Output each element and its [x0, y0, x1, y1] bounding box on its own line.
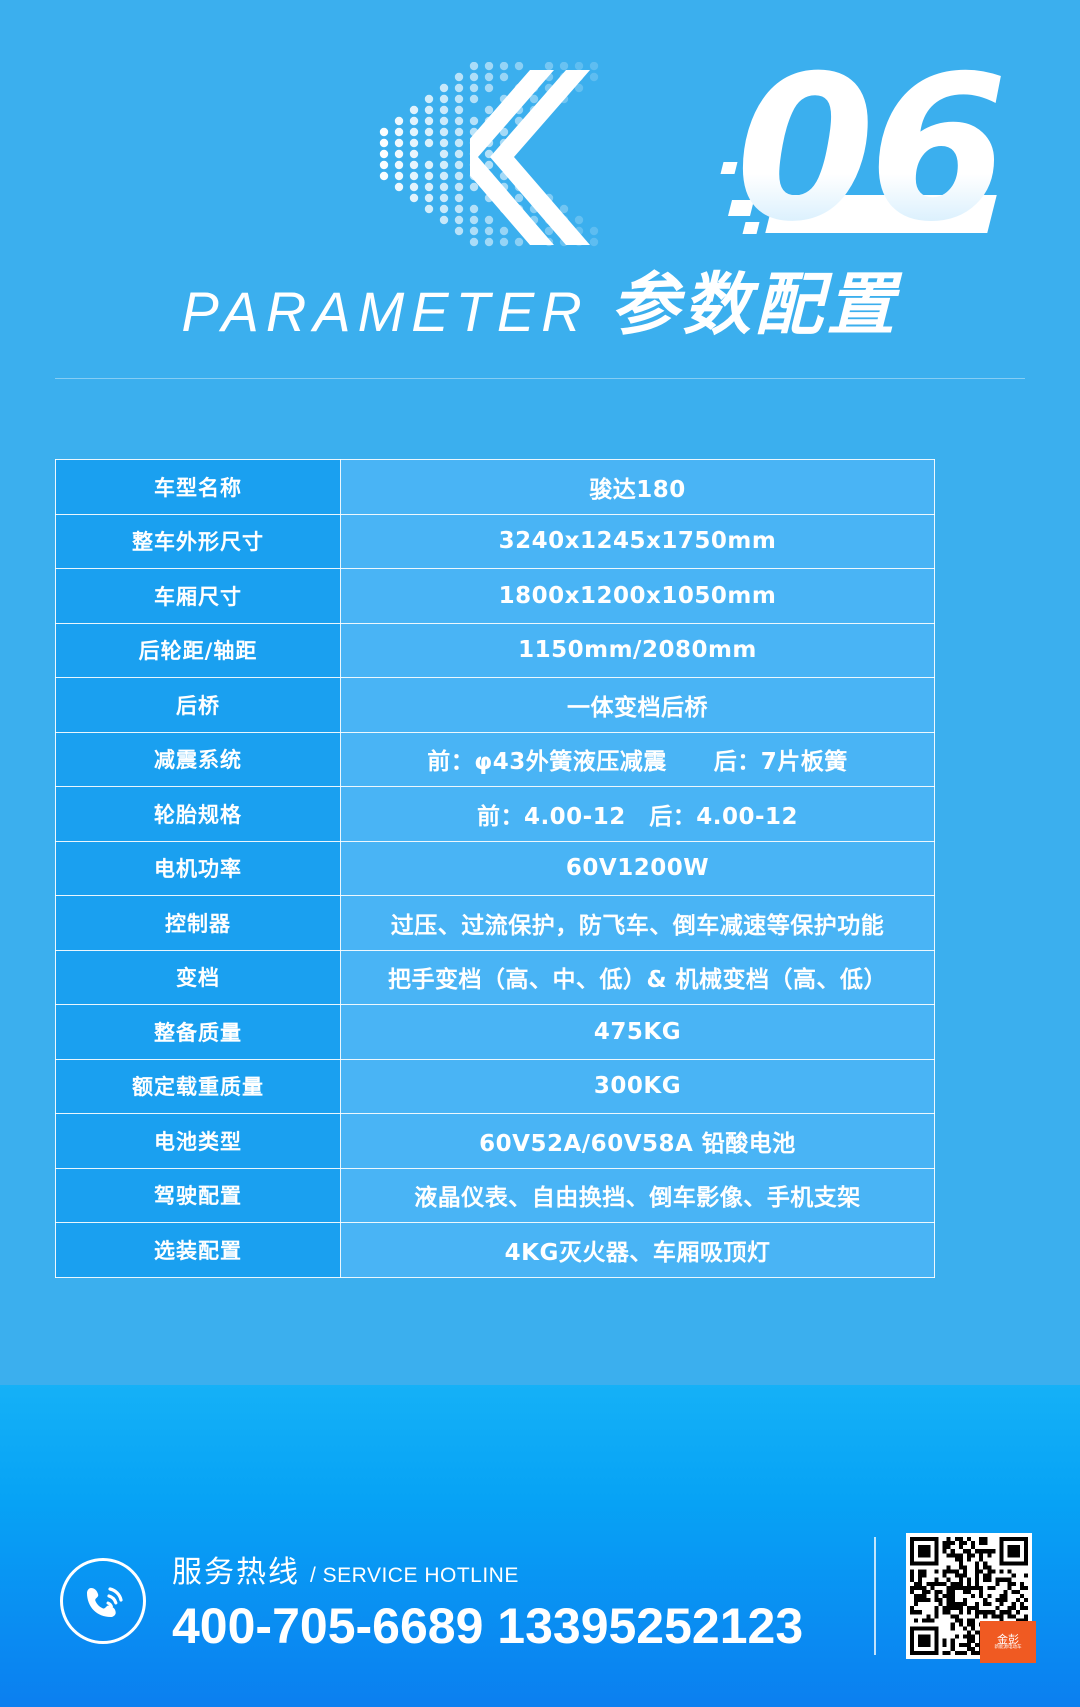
spec-value-cell: 前：φ43外簧液压减震 后：7片板簧 [341, 732, 935, 787]
table-row: 轮胎规格前：4.00-12 后：4.00-12 [56, 787, 935, 842]
spec-value-cell: 300KG [341, 1059, 935, 1114]
spec-value-cell: 60V1200W [341, 841, 935, 896]
spec-label-cell: 轮胎规格 [56, 787, 341, 842]
table-row: 后轮距/轴距1150mm/2080mm [56, 623, 935, 678]
section-title-cn: 参数配置 [611, 272, 899, 340]
phone-icon [77, 1575, 129, 1627]
hotline-text: 服务热线 / SERVICE HOTLINE 400-705-6689 1339… [172, 1547, 803, 1655]
spec-label-cell: 电池类型 [56, 1114, 341, 1169]
table-row: 额定载重质量300KG [56, 1059, 935, 1114]
table-row: 电池类型60V52A/60V58A 铅酸电池 [56, 1114, 935, 1169]
spec-label-cell: 电机功率 [56, 841, 341, 896]
spec-table-body: 车型名称骏达180整车外形尺寸3240x1245x1750mm车厢尺寸1800x… [56, 460, 935, 1278]
hotline-block: 服务热线 / SERVICE HOTLINE 400-705-6689 1339… [60, 1547, 803, 1655]
spec-label-cell: 控制器 [56, 896, 341, 951]
qr-brand-name: 金彭 [997, 1634, 1019, 1645]
spec-value-cell: 前：4.00-12 后：4.00-12 [341, 787, 935, 842]
spec-label-cell: 驾驶配置 [56, 1168, 341, 1223]
phone-icon-circle [60, 1558, 146, 1644]
spec-value-cell: 把手变档（高、中、低）& 机械变档（高、低） [341, 950, 935, 1005]
spec-value-cell: 3240x1245x1750mm [341, 514, 935, 569]
hotline-heading: 服务热线 / SERVICE HOTLINE [172, 1547, 803, 1591]
table-row: 车厢尺寸1800x1200x1050mm [56, 569, 935, 624]
spec-value-cell: 60V52A/60V58A 铅酸电池 [341, 1114, 935, 1169]
spec-value-cell: 液晶仪表、自由换挡、倒车影像、手机支架 [341, 1168, 935, 1223]
spec-label-cell: 变档 [56, 950, 341, 1005]
spec-value-cell: 1800x1200x1050mm [341, 569, 935, 624]
qr-divider [874, 1537, 876, 1655]
qr-block: 金彭 新能源电动车 [874, 1533, 1032, 1659]
solid-chevron-icon [470, 70, 590, 245]
spec-label-cell: 额定载重质量 [56, 1059, 341, 1114]
spec-label-cell: 后轮距/轴距 [56, 623, 341, 678]
page-header: 06 PARAMETER 参数配置 [0, 0, 1080, 400]
table-row: 选装配置4KG灭火器、车厢吸顶灯 [56, 1223, 935, 1278]
hotline-label-cn: 服务热线 [172, 1547, 300, 1591]
hotline-numbers[interactable]: 400-705-6689 13395252123 [172, 1597, 803, 1655]
table-row: 后桥一体变档后桥 [56, 678, 935, 733]
table-row: 驾驶配置液晶仪表、自由换挡、倒车影像、手机支架 [56, 1168, 935, 1223]
spec-value-cell: 475KG [341, 1005, 935, 1060]
spec-label-cell: 车型名称 [56, 460, 341, 515]
spec-label-cell: 车厢尺寸 [56, 569, 341, 624]
spec-table: 车型名称骏达180整车外形尺寸3240x1245x1750mm车厢尺寸1800x… [55, 459, 935, 1278]
section-number: 06 [736, 50, 1002, 250]
qr-code[interactable]: 金彭 新能源电动车 [906, 1533, 1032, 1659]
spec-value-cell: 过压、过流保护，防飞车、倒车减速等保护功能 [341, 896, 935, 951]
spec-value-cell: 1150mm/2080mm [341, 623, 935, 678]
table-row: 车型名称骏达180 [56, 460, 935, 515]
spec-label-cell: 选装配置 [56, 1223, 341, 1278]
table-row: 整车外形尺寸3240x1245x1750mm [56, 514, 935, 569]
section-title: PARAMETER 参数配置 [0, 272, 1080, 340]
spec-value-cell: 4KG灭火器、车厢吸顶灯 [341, 1223, 935, 1278]
spec-label-cell: 整车外形尺寸 [56, 514, 341, 569]
spec-value-cell: 一体变档后桥 [341, 678, 935, 733]
qr-brand-logo: 金彭 新能源电动车 [980, 1621, 1036, 1663]
spec-label-cell: 减震系统 [56, 732, 341, 787]
spec-value-cell: 骏达180 [341, 460, 935, 515]
section-title-en: PARAMETER [181, 284, 588, 340]
page-footer: 服务热线 / SERVICE HOTLINE 400-705-6689 1339… [0, 1385, 1080, 1707]
table-row: 减震系统前：φ43外簧液压减震 后：7片板簧 [56, 732, 935, 787]
spec-label-cell: 后桥 [56, 678, 341, 733]
table-row: 整备质量475KG [56, 1005, 935, 1060]
table-row: 变档把手变档（高、中、低）& 机械变档（高、低） [56, 950, 935, 1005]
qr-brand-tagline: 新能源电动车 [995, 1646, 1022, 1651]
table-row: 电机功率60V1200W [56, 841, 935, 896]
header-divider [55, 378, 1025, 379]
spec-label-cell: 整备质量 [56, 1005, 341, 1060]
table-row: 控制器过压、过流保护，防飞车、倒车减速等保护功能 [56, 896, 935, 951]
hotline-label-en: / SERVICE HOTLINE [310, 1564, 519, 1588]
